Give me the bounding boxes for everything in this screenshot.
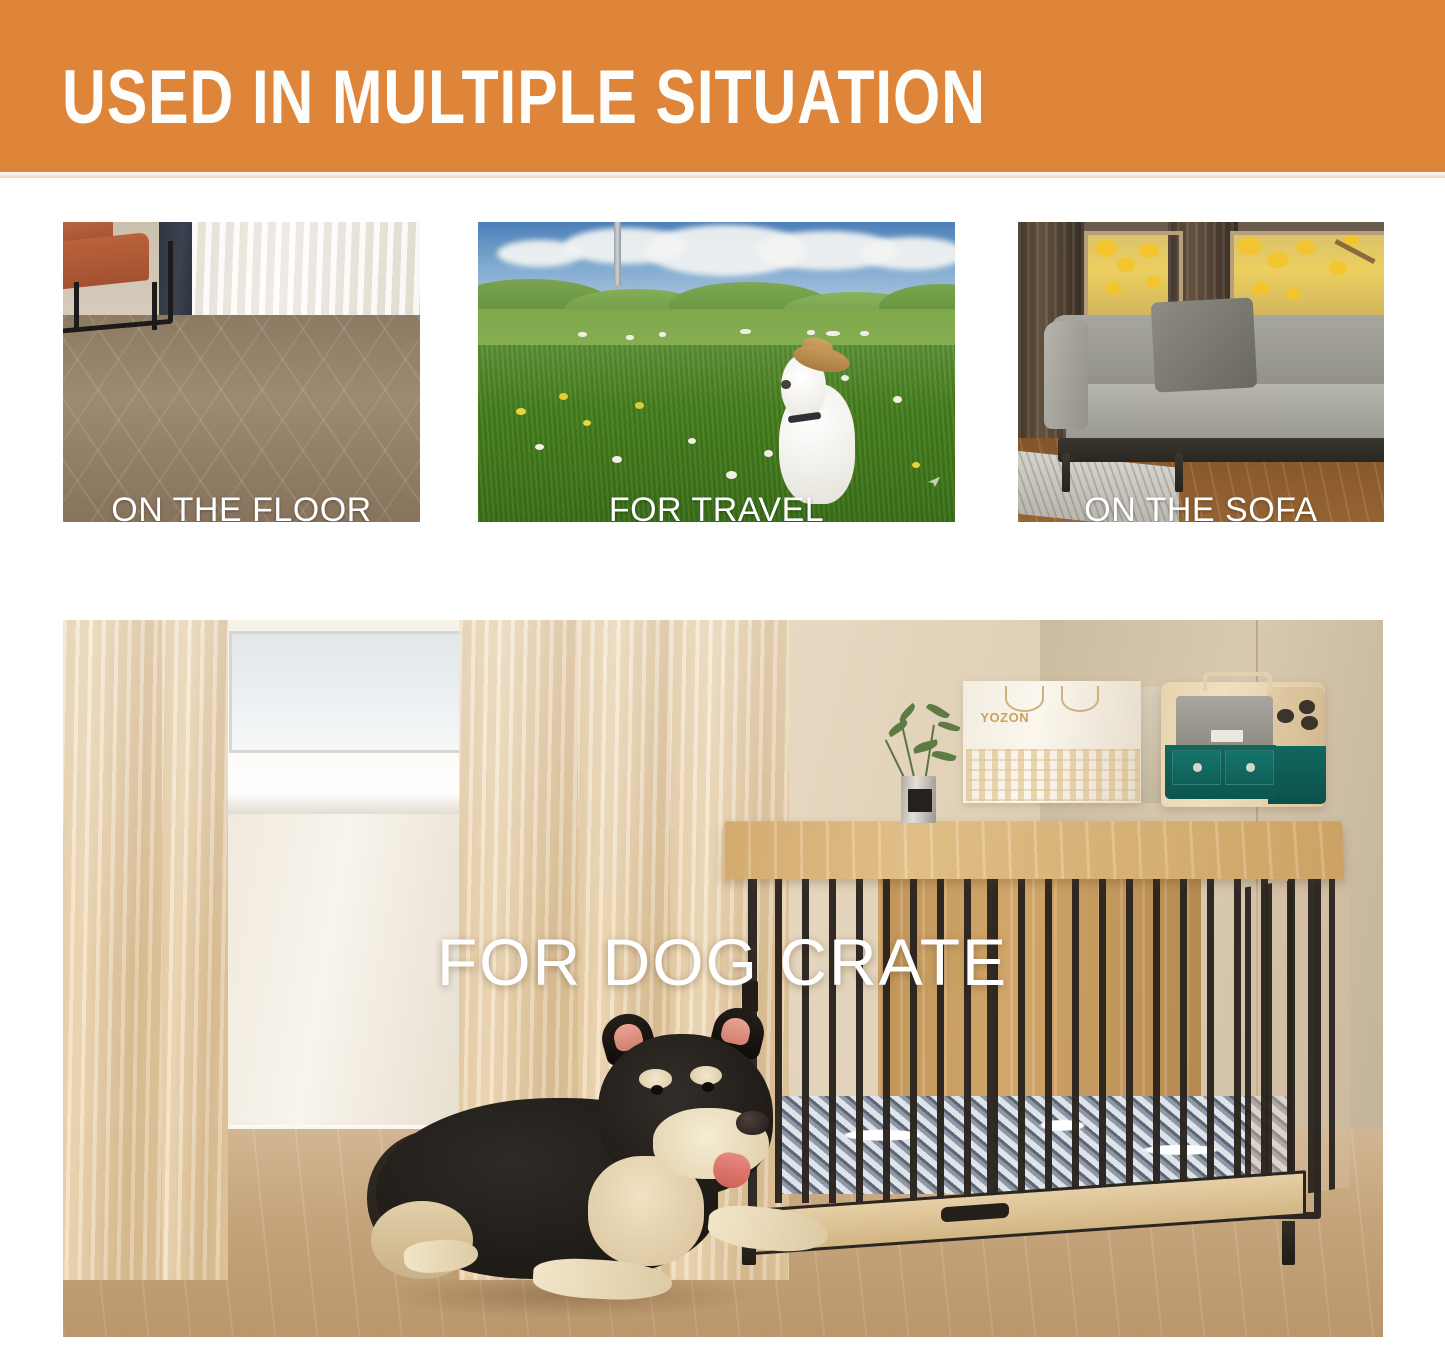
floor-scene-image (63, 222, 420, 522)
scenario-card-travel[interactable]: FOR TRAVEL (478, 222, 955, 522)
carrier-vent-hole (1301, 716, 1318, 730)
carrier-vent-hole (1299, 700, 1316, 714)
travel-scene-image (478, 222, 955, 522)
scenario-thumbnail-row: ON THE FLOOR (0, 222, 1445, 522)
hero-curtain-panel (63, 620, 169, 1280)
carrier-logo-patch (1211, 730, 1243, 741)
dog-paw (707, 1202, 831, 1256)
page-title: USED IN MULTIPLE SITUATION (62, 52, 1006, 144)
send-watermark-icon (927, 475, 941, 489)
gift-bag-brand-label: YOZON (980, 710, 1072, 727)
crate-latch[interactable] (742, 981, 758, 1012)
carrier-vent-hole (1277, 709, 1294, 723)
plant-can-label (908, 789, 932, 812)
crate-wood-tabletop (722, 821, 1345, 879)
hero-image: YOZON (63, 620, 1383, 1337)
dog-nose (736, 1111, 768, 1135)
scenario-card-floor[interactable]: ON THE FLOOR (63, 222, 420, 522)
hero-curtain-panel (162, 620, 228, 1280)
scenario-card-sofa[interactable]: ON THE SOFA (1018, 222, 1384, 522)
hero-window-sill (188, 792, 498, 814)
sofa-scene-image (1018, 222, 1384, 522)
scenario-label-travel: FOR TRAVEL (478, 490, 955, 522)
scenario-label-floor: ON THE FLOOR (63, 490, 420, 522)
hero-window (208, 620, 493, 813)
header-banner: USED IN MULTIPLE SITUATION (0, 0, 1445, 172)
dog-malamute (367, 1014, 829, 1337)
carrier-handle (1203, 672, 1272, 692)
banner-divider (0, 172, 1445, 178)
gift-bag-pattern (966, 749, 1140, 801)
scenario-label-sofa: ON THE SOFA (1018, 490, 1384, 522)
